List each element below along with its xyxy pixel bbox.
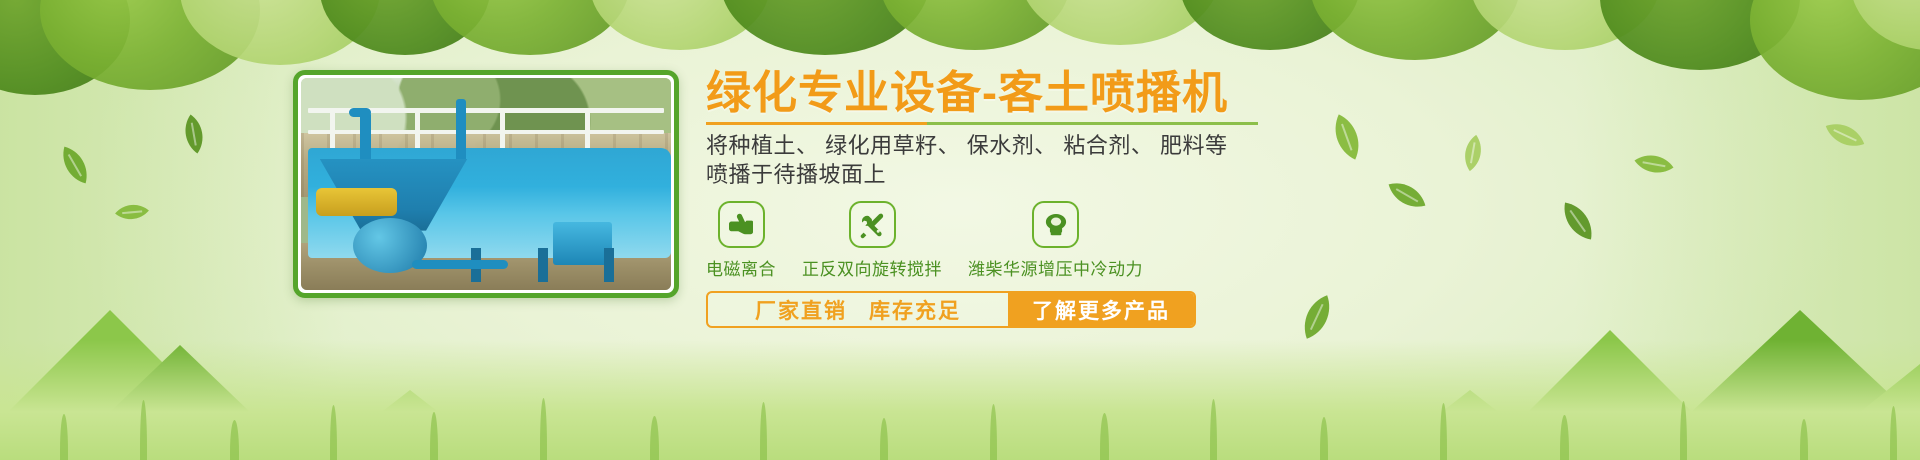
tools-wrench-screwdriver-icon	[849, 201, 896, 248]
floating-leaf-icon	[1635, 145, 1674, 184]
clutch-hand-icon	[718, 201, 765, 248]
product-photo[interactable]	[293, 70, 679, 298]
subtitle-block: 将种植土、 绿化用草籽、 保水剂、 粘合剂、 肥料等 喷播于待播坡面上	[706, 131, 1426, 189]
feature-item-electromagnetic-clutch[interactable]: 电磁离合	[706, 201, 776, 280]
banner-content: 绿化专业设备-客土喷播机 将种植土、 绿化用草籽、 保水剂、 粘合剂、 肥料等 …	[706, 68, 1426, 328]
floating-leaf-icon	[115, 195, 149, 229]
feature-label: 电磁离合	[706, 255, 776, 280]
floating-leaf-icon	[1826, 116, 1864, 154]
cta-slogan-right: 库存充足	[869, 295, 961, 325]
feature-item-bidirectional-mixing[interactable]: 正反双向旋转搅拌	[802, 201, 942, 280]
title-divider	[706, 122, 1258, 125]
feature-list: 电磁离合 正反双向旋转搅拌	[706, 201, 1426, 280]
feature-label: 潍柴华源增压中冷动力	[968, 255, 1143, 280]
grass-strip	[0, 340, 1920, 460]
page-title: 绿化专业设备-客土喷播机	[706, 68, 1426, 118]
engine-power-icon	[1032, 201, 1079, 248]
cta-slogan-left: 厂家直销	[755, 295, 847, 325]
subtitle-line-1: 将种植土、 绿化用草籽、 保水剂、 粘合剂、 肥料等	[706, 131, 1426, 160]
subtitle-line-2: 喷播于待播坡面上	[706, 160, 1426, 189]
floating-leaf-icon	[175, 115, 214, 154]
floating-leaf-icon	[57, 147, 94, 184]
cta-slogan: 厂家直销 库存充足	[708, 293, 1008, 326]
feature-item-weichai-power[interactable]: 潍柴华源增压中冷动力	[968, 201, 1143, 280]
promo-banner: 绿化专业设备-客土喷播机 将种植土、 绿化用草籽、 保水剂、 粘合剂、 肥料等 …	[0, 0, 1920, 460]
learn-more-button[interactable]: 了解更多产品	[1008, 293, 1194, 326]
floating-leaf-icon	[1455, 135, 1491, 171]
feature-label: 正反双向旋转搅拌	[802, 255, 942, 280]
cta-bar: 厂家直销 库存充足 了解更多产品	[706, 291, 1196, 328]
